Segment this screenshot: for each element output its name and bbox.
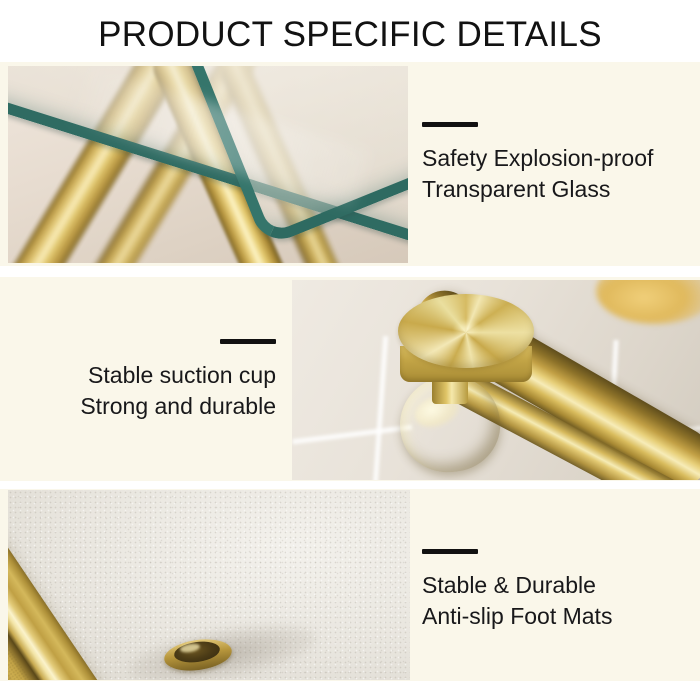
panel-foot-mats: Stable & Durable Anti-slip Foot Mats: [0, 489, 700, 681]
panel-glass: Safety Explosion-proof Transparent Glass: [0, 62, 700, 266]
product-details-infographic: PRODUCT SPECIFIC DETAILS Safety Explosio…: [0, 0, 700, 700]
glass-corner-photo: [8, 66, 408, 263]
accent-rule-icon: [220, 339, 276, 344]
accent-rule-icon: [422, 549, 478, 554]
caption-foot-mats: Stable & Durable Anti-slip Foot Mats: [422, 549, 612, 632]
panel-suction-cup: Stable suction cup Strong and durable: [0, 277, 700, 481]
suction-cup-photo: [292, 280, 700, 480]
caption-line: Transparent Glass: [422, 174, 653, 205]
caption-line: Stable & Durable: [422, 570, 612, 601]
accent-rule-icon: [422, 122, 478, 127]
foot-mat-photo: [8, 490, 410, 680]
caption-line: Anti-slip Foot Mats: [422, 601, 612, 632]
glass-panel-group: [8, 66, 408, 263]
caption-suction-cup: Stable suction cup Strong and durable: [80, 339, 276, 422]
caption-line: Strong and durable: [80, 391, 276, 422]
caption-line: Safety Explosion-proof: [422, 143, 653, 174]
caption-line: Stable suction cup: [80, 360, 276, 391]
brushed-disc-center-icon: [454, 320, 480, 338]
caption-glass: Safety Explosion-proof Transparent Glass: [422, 122, 653, 205]
page-title: PRODUCT SPECIFIC DETAILS: [0, 14, 700, 56]
